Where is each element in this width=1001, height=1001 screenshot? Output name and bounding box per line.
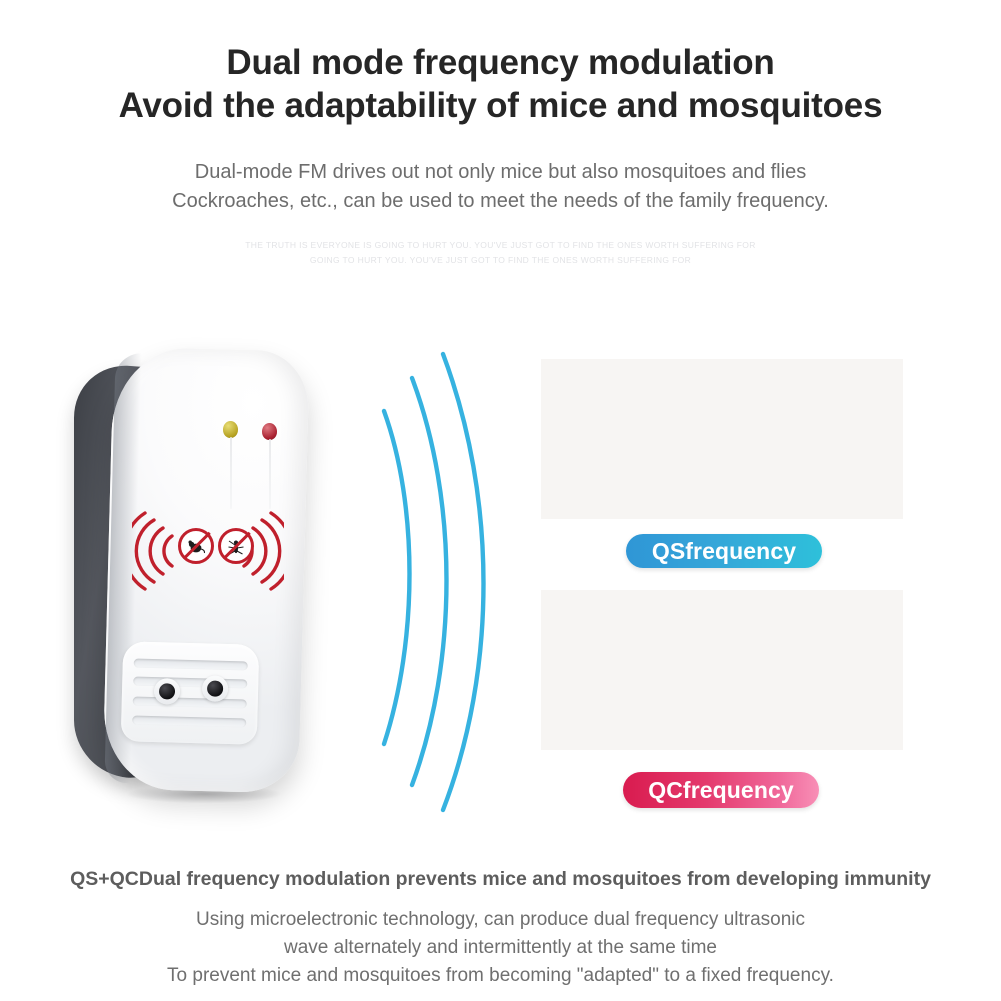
ghost-line-1: THE TRUTH IS EVERYONE IS GOING TO HURT Y… <box>0 238 1001 253</box>
headline-line-2: Avoid the adaptability of mice and mosqu… <box>0 84 1001 128</box>
led-stem-right <box>269 439 271 509</box>
ghost-line-2: GOING TO HURT YOU. YOU'VE JUST GOT TO FI… <box>0 253 1001 268</box>
waveform-panel-qs <box>541 359 903 519</box>
qc-waveform-chart <box>541 590 903 750</box>
product-image <box>60 345 380 825</box>
pest-repel-symbol-group <box>132 508 284 594</box>
page-title: Dual mode frequency modulation Avoid the… <box>0 42 1001 128</box>
speaker-grille <box>121 641 260 745</box>
badge-qc-label: QCfrequency <box>648 777 794 804</box>
grille-slot <box>132 715 246 727</box>
product-infographic: Dual mode frequency modulation Avoid the… <box>0 0 1001 1001</box>
ultrasonic-repeller-device <box>60 345 380 815</box>
badge-qc-frequency[interactable]: QCfrequency <box>623 772 819 808</box>
subtitle-line-2: Cockroaches, etc., can be used to meet t… <box>0 187 1001 216</box>
subtitle: Dual-mode FM drives out not only mice bu… <box>0 158 1001 216</box>
led-stem-left <box>230 437 232 509</box>
bottom-description: Using microelectronic technology, can pr… <box>0 906 1001 990</box>
grille-slot <box>134 659 248 671</box>
ultrasonic-wave-arcs-icon <box>366 340 556 820</box>
led-power-yellow-icon <box>223 421 238 438</box>
bottom-line-2: wave alternately and intermittently at t… <box>0 934 1001 962</box>
sound-wave-left-icon <box>132 508 178 594</box>
no-mouse-symbol-icon <box>178 528 214 564</box>
led-status-red-icon <box>262 423 277 440</box>
bottom-emphasis-text: QS+QCDual frequency modulation prevents … <box>0 866 1001 892</box>
waveform-panel-qc <box>541 590 903 750</box>
badge-qs-frequency[interactable]: QSfrequency <box>626 534 822 568</box>
grille-slot <box>133 697 247 709</box>
decorative-ghost-text: THE TRUTH IS EVERYONE IS GOING TO HURT Y… <box>0 238 1001 268</box>
qs-waveform-chart <box>541 359 903 519</box>
no-mosquito-symbol-icon <box>218 528 254 564</box>
badge-qs-label: QSfrequency <box>652 538 796 565</box>
headline-line-1: Dual mode frequency modulation <box>0 42 1001 84</box>
subtitle-line-1: Dual-mode FM drives out not only mice bu… <box>0 158 1001 187</box>
grille-slot <box>133 677 247 689</box>
bottom-line-3: To prevent mice and mosquitoes from beco… <box>0 962 1001 990</box>
bottom-line-1: Using microelectronic technology, can pr… <box>0 906 1001 934</box>
